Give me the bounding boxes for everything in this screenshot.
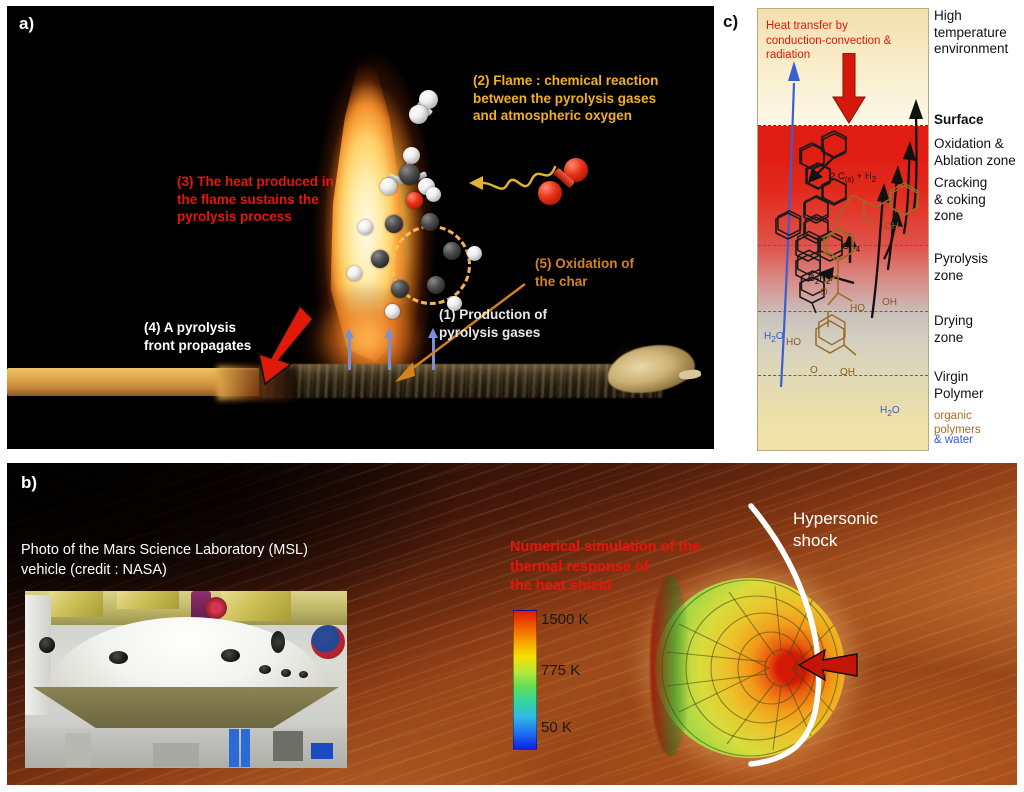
photo-foil — [49, 591, 103, 617]
photo-equipment — [65, 733, 91, 767]
hydroxyl-label: HO — [786, 337, 801, 348]
species-acetylene: C2H2 — [808, 273, 831, 286]
gas-arrow-icon — [348, 336, 351, 370]
annotation-pyrolysis-front: (4) A pyrolysis front propagates — [144, 319, 314, 354]
photo-foil — [221, 591, 291, 621]
stagnation-heating-arrow-icon — [797, 648, 859, 682]
photo-equipment — [153, 743, 199, 767]
species-water-lower: H2O — [880, 405, 900, 418]
panel-a-label: a) — [19, 14, 34, 34]
colorbar-mid-label: 775 K — [541, 662, 580, 679]
msl-port — [299, 671, 308, 678]
hydroxyl-label: OH — [882, 297, 897, 308]
temperature-colorbar — [513, 610, 537, 750]
virgin-polymer-water-note: & water — [934, 433, 973, 447]
hydroxyl-label: HO — [850, 303, 865, 314]
msl-port — [259, 665, 271, 674]
hypersonic-shock-label: Hypersonic shock — [793, 508, 878, 552]
virgin-polymer-structure — [814, 179, 928, 445]
species-water-upper: H2O — [764, 331, 784, 344]
annotation-pyrolysis-gases: (1) Production of pyrolysis gases — [439, 306, 599, 341]
photo-equipment — [311, 743, 333, 759]
annotation-heat-sustains-pyrolysis: (3) The heat produced in the flame susta… — [177, 173, 367, 226]
colorbar-bottom-label: 50 K — [541, 719, 572, 736]
species-carbon-hydrogen: 2 C(s) + H2 — [830, 171, 876, 184]
photo-ladder — [229, 729, 239, 767]
msl-port — [281, 669, 291, 677]
hydroxyl-label: OH — [840, 367, 855, 378]
photo-fixture — [39, 637, 55, 653]
match-tip — [679, 369, 702, 380]
zone-label-pyrolysis: Pyrolysis zone — [934, 251, 988, 284]
msl-vehicle-photo — [25, 591, 347, 768]
species-methane: CH4 — [842, 241, 860, 254]
panel-b-mars-entry: b) Photo of the Mars Science Laboratory … — [7, 463, 1017, 785]
panel-b-label: b) — [21, 473, 37, 493]
zone-label-oxidation-ablation: Oxidation & Ablation zone — [934, 136, 1016, 169]
ether-oxygen-label: O — [810, 365, 818, 376]
photo-fixture — [205, 597, 227, 619]
hydroxyl-label: OH — [884, 221, 899, 232]
panel-a-pyrolysis-flame: a) — [7, 6, 714, 449]
msl-port — [109, 651, 128, 664]
nasa-logo-icon — [311, 625, 345, 659]
colorbar-top-label: 1500 K — [541, 611, 589, 628]
zone-label-virgin-polymer: Virgin Polymer — [934, 369, 984, 402]
annotation-char-oxidation: (5) Oxidation of the char — [535, 255, 695, 290]
panel-c-ablation-zones: Heat transfer by conduction-convection &… — [757, 8, 929, 451]
panel-c-label: c) — [723, 12, 738, 32]
zone-label-surface: Surface — [934, 112, 984, 129]
msl-port — [271, 631, 285, 653]
msl-port — [221, 649, 240, 662]
annotation-flame-reaction: (2) Flame : chemical reaction between th… — [473, 72, 688, 125]
ether-oxygen-label: O — [820, 287, 828, 298]
photo-ladder — [241, 729, 250, 767]
photo-equipment — [273, 731, 303, 761]
zone-label-drying: Drying zone — [934, 313, 973, 346]
photo-foil — [117, 591, 179, 609]
high-temperature-environment-label: High temperature environment — [934, 8, 1008, 58]
zone-label-cracking-coking: Cracking & coking zone — [934, 175, 987, 225]
msl-photo-caption: Photo of the Mars Science Laboratory (MS… — [21, 541, 308, 580]
